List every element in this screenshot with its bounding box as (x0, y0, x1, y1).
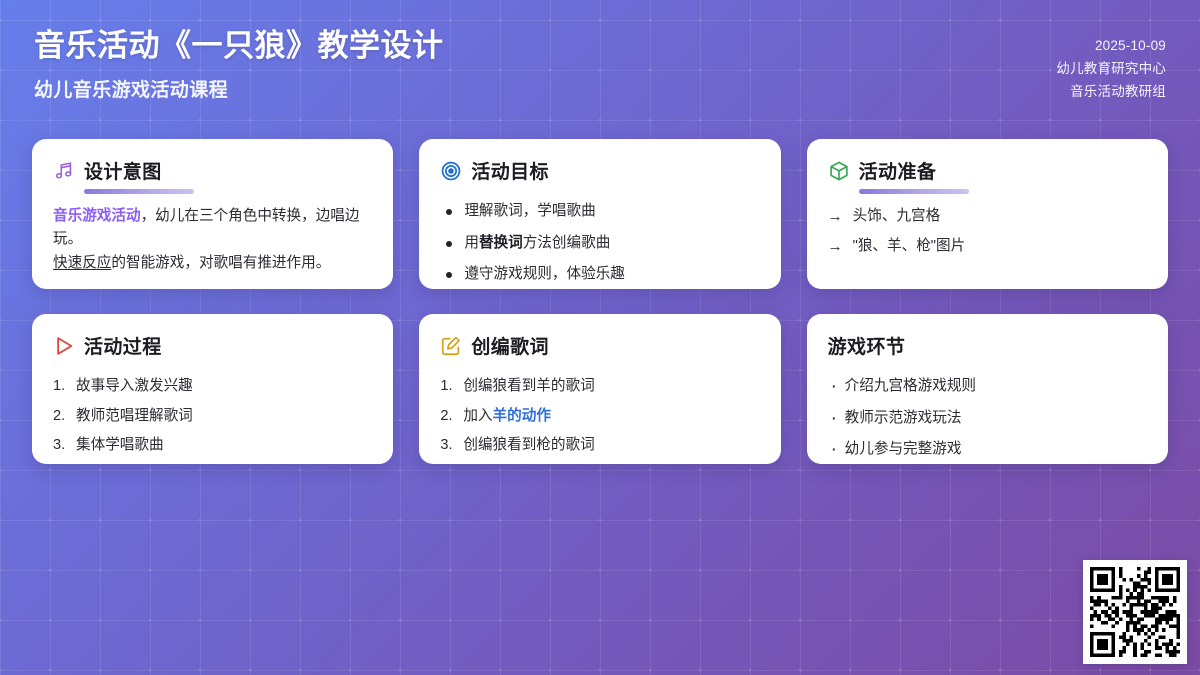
list-item: 幼儿参与完整游戏 (828, 438, 1147, 462)
card-body: 介绍九宫格游戏规则教师示范游戏玩法幼儿参与完整游戏 (828, 375, 1147, 464)
card-body: 头饰、九宫格"狼、羊、枪"图片 (828, 205, 1147, 264)
card-body: 创编狼看到羊的歌词加入羊的动作创编狼看到枪的歌词 (440, 375, 759, 464)
page-title: 音乐活动《一只狼》教学设计 (34, 26, 444, 66)
card-list: 头饰、九宫格"狼、羊、枪"图片 (828, 205, 1147, 258)
card-list: 故事导入激发兴趣教师范唱理解歌词集体学唱歌曲 (53, 375, 372, 458)
card-title: 创编歌词 (471, 332, 549, 359)
play-triangle-icon (53, 335, 75, 357)
emphasis-text: 替换词 (479, 235, 523, 251)
list-item: 理解歌词，学唱歌曲 (440, 200, 759, 224)
card-header: 设计意图 (53, 157, 372, 184)
list-item: 集体学唱歌曲 (53, 434, 372, 458)
header-date: 2025-10-09 (1095, 34, 1166, 57)
list-item: 创编狼看到枪的歌词 (440, 434, 759, 458)
list-item: 加入羊的动作 (440, 405, 759, 429)
card-paragraph: 音乐游戏活动，幼儿在三个角色中转换，边唱边玩。快速反应的智能游戏，对歌唱有推进作… (53, 205, 372, 275)
accent-text: 音乐游戏活动 (53, 208, 141, 224)
underlined-text: 快速反应 (53, 255, 111, 271)
list-item: 教师范唱理解歌词 (53, 405, 372, 429)
package-icon (828, 160, 850, 182)
list-item: 创编狼看到羊的歌词 (440, 375, 759, 399)
card-list: 理解歌词，学唱歌曲用替换词方法创编歌曲遵守游戏规则，体验乐趣 (440, 200, 759, 287)
card-body: 音乐游戏活动，幼儿在三个角色中转换，边唱边玩。快速反应的智能游戏，对歌唱有推进作… (53, 205, 372, 275)
card-title: 活动过程 (84, 332, 162, 359)
card-lyric-creation: 创编歌词创编狼看到羊的歌词加入羊的动作创编狼看到枪的歌词 (419, 314, 780, 464)
header-team: 音乐活动教研组 (1070, 80, 1166, 103)
qr-code-canvas (1090, 567, 1180, 657)
card-header: 创编歌词 (440, 332, 759, 359)
card-body: 理解歌词，学唱歌曲用替换词方法创编歌曲遵守游戏规则，体验乐趣 (440, 200, 759, 289)
slide-header: 音乐活动《一只狼》教学设计 幼儿音乐游戏活动课程 2025-10-09 幼儿教育… (0, 0, 1200, 132)
card-title: 活动目标 (471, 157, 549, 184)
title-underline (859, 189, 969, 194)
music-note-icon (53, 160, 75, 182)
card-header: 活动准备 (828, 157, 1147, 184)
card-body: 故事导入激发兴趣教师范唱理解歌词集体学唱歌曲 (53, 375, 372, 464)
highlight-text: 羊的动作 (493, 408, 551, 424)
list-item: "狼、羊、枪"图片 (828, 235, 1147, 259)
card-header: 活动目标 (440, 157, 759, 184)
card-list: 介绍九宫格游戏规则教师示范游戏玩法幼儿参与完整游戏 (828, 375, 1147, 462)
title-underline (84, 189, 194, 194)
list-item: 遵守游戏规则，体验乐趣 (440, 263, 759, 287)
card-activity-prep: 活动准备头饰、九宫格"狼、羊、枪"图片 (807, 139, 1168, 289)
list-item: 故事导入激发兴趣 (53, 375, 372, 399)
card-activity-goals: 活动目标理解歌词，学唱歌曲用替换词方法创编歌曲遵守游戏规则，体验乐趣 (419, 139, 780, 289)
card-title: 设计意图 (84, 157, 162, 184)
card-title: 活动准备 (859, 157, 937, 184)
list-item: 用替换词方法创编歌曲 (440, 232, 759, 256)
card-header: 游戏环节 (828, 332, 1147, 359)
list-item: 介绍九宫格游戏规则 (828, 375, 1147, 399)
card-grid: 设计意图音乐游戏活动，幼儿在三个角色中转换，边唱边玩。快速反应的智能游戏，对歌唱… (32, 139, 1168, 464)
qr-code[interactable] (1083, 560, 1187, 664)
target-icon (440, 160, 462, 182)
card-list: 创编狼看到羊的歌词加入羊的动作创编狼看到枪的歌词 (440, 375, 759, 458)
header-left: 音乐活动《一只狼》教学设计 幼儿音乐游戏活动课程 (34, 26, 444, 102)
edit-square-icon (440, 335, 462, 357)
header-meta: 2025-10-09 幼儿教育研究中心 音乐活动教研组 (1056, 26, 1166, 104)
list-item: 头饰、九宫格 (828, 205, 1147, 229)
card-activity-process: 活动过程故事导入激发兴趣教师范唱理解歌词集体学唱歌曲 (32, 314, 393, 464)
list-item: 教师示范游戏玩法 (828, 407, 1147, 431)
page-subtitle: 幼儿音乐游戏活动课程 (34, 75, 444, 102)
card-header: 活动过程 (53, 332, 372, 359)
card-design-intent: 设计意图音乐游戏活动，幼儿在三个角色中转换，边唱边玩。快速反应的智能游戏，对歌唱… (32, 139, 393, 289)
card-title: 游戏环节 (828, 332, 906, 359)
header-organization: 幼儿教育研究中心 (1056, 57, 1166, 80)
card-game-stage: 游戏环节介绍九宫格游戏规则教师示范游戏玩法幼儿参与完整游戏 (807, 314, 1168, 464)
